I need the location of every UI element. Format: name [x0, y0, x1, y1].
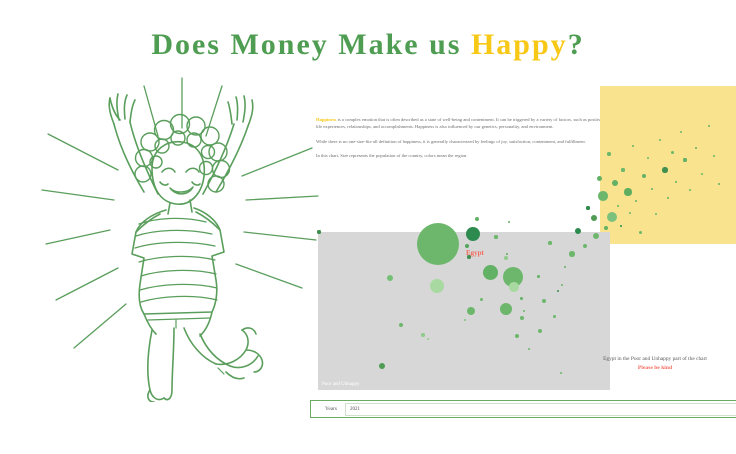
years-filter-label: Years [311, 406, 345, 412]
bubble-point[interactable] [509, 282, 519, 292]
bubble-point[interactable] [417, 223, 459, 265]
title-highlight: Happy [471, 28, 568, 61]
bubble-point[interactable] [520, 297, 523, 300]
bubble-point[interactable] [683, 158, 686, 161]
bubble-point[interactable] [317, 230, 320, 233]
bubble-point[interactable] [662, 167, 667, 172]
bubble-point[interactable] [598, 191, 608, 201]
bubble-point[interactable] [718, 183, 720, 185]
bubble-point[interactable] [642, 174, 646, 178]
bubble-point[interactable] [537, 275, 540, 278]
chart-annotation: Egypt in the Poor and Unhappy part of th… [560, 355, 736, 374]
bubble-point[interactable] [508, 221, 511, 224]
bubble-point[interactable] [655, 213, 657, 215]
years-filter[interactable]: Years 2021 [310, 400, 736, 418]
title-part-2: ? [568, 28, 585, 61]
page-title: Does Money Make us Happy? [0, 28, 736, 62]
bubble-point[interactable] [475, 217, 479, 221]
bubble-scatter-chart[interactable]: Poor and Unhappy Egypt [310, 86, 736, 391]
bubble-point[interactable] [387, 275, 393, 281]
bubble-point[interactable] [480, 298, 483, 301]
dashboard-canvas: Does Money Make us Happy? [0, 0, 736, 454]
years-filter-input[interactable]: 2021 [345, 403, 736, 416]
point-label-egypt: Egypt [466, 249, 484, 257]
bubble-point[interactable] [639, 231, 642, 234]
title-part-1: Does Money Make us [151, 28, 471, 61]
bubble-point[interactable] [548, 241, 551, 244]
bubble-point[interactable] [553, 315, 556, 318]
bubble-point[interactable] [421, 333, 425, 337]
bubble-point[interactable] [621, 168, 624, 171]
bubble-point[interactable] [612, 180, 618, 186]
bubble-point[interactable] [465, 244, 469, 248]
bubble-point[interactable] [430, 279, 444, 293]
years-filter-value: 2021 [346, 407, 360, 412]
bubble-point[interactable] [515, 334, 519, 338]
bubble-point[interactable] [597, 176, 602, 181]
bubble-point[interactable] [671, 151, 674, 154]
bubble-point[interactable] [591, 215, 597, 221]
bubble-point[interactable] [494, 235, 497, 238]
annotation-line-1: Egypt in the Poor and Unhappy part of th… [560, 355, 736, 364]
quadrant-label-poor-and-unhappy: Poor and Unhappy [322, 382, 360, 387]
bubble-point[interactable] [500, 303, 512, 315]
bubble-point[interactable] [569, 251, 574, 256]
bubble-point[interactable] [624, 188, 631, 195]
burst-rays [42, 78, 318, 348]
bubble-point[interactable] [604, 226, 608, 230]
bubble-point[interactable] [483, 265, 498, 280]
bubble-point[interactable] [607, 152, 610, 155]
annotation-line-2: Please be kind [560, 364, 736, 374]
quadrant-rich-and-happy [600, 86, 736, 244]
shirt-stripes [135, 218, 217, 302]
jumping-person-illustration [40, 72, 320, 402]
bubble-point[interactable] [675, 181, 677, 183]
bubble-point[interactable] [586, 206, 589, 209]
